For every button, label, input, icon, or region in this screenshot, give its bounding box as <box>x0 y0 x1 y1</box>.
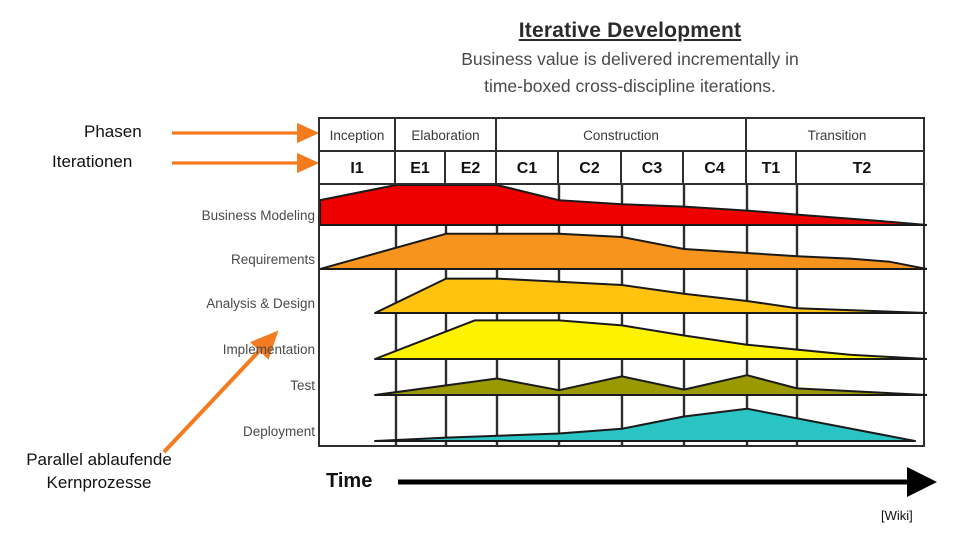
hump-area-test <box>375 375 927 395</box>
hump-chart-plot <box>320 185 927 446</box>
iteration-cell-label: I1 <box>350 160 363 178</box>
phase-cell-label: Elaboration <box>411 128 479 143</box>
phase-cell-label: Inception <box>330 128 385 143</box>
iteration-cell-t1: T1 <box>747 152 797 185</box>
iteration-header-row: I1E1E2C1C2C3C4T1T2 <box>320 152 923 185</box>
iteration-cell-i1: I1 <box>320 152 396 185</box>
annotation-iterationen-text: Iterationen <box>52 152 132 171</box>
chart-frame: InceptionElaborationConstructionTransiti… <box>318 117 925 447</box>
hump-area-implementation <box>375 320 927 359</box>
discipline-label-deployment: Deployment <box>150 424 315 439</box>
iteration-cell-e2: E2 <box>446 152 497 185</box>
discipline-label-implementation: Implementation <box>150 342 315 357</box>
phase-cell-label: Transition <box>808 128 867 143</box>
hump-area-analysis-design <box>375 279 927 313</box>
phase-cell-construction: Construction <box>497 119 747 152</box>
iteration-cell-c4: C4 <box>684 152 747 185</box>
page-subtitle-line2: time-boxed cross-discipline iterations. <box>330 75 930 98</box>
annotation-phasen: Phasen <box>84 122 142 142</box>
phase-cell-label: Construction <box>583 128 659 143</box>
discipline-label-analysis-design: Analysis & Design <box>150 296 315 311</box>
iteration-cell-c1: C1 <box>497 152 559 185</box>
phase-cell-inception: Inception <box>320 119 396 152</box>
iteration-cell-c3: C3 <box>622 152 684 185</box>
annotation-parallel-kernprozesse: Parallel ablaufende Kernprozesse <box>4 449 194 495</box>
iteration-cell-label: C1 <box>517 160 537 178</box>
discipline-label-test: Test <box>150 378 315 393</box>
diagram-canvas: Iterative Development Business value is … <box>0 0 957 549</box>
attribution-label: [Wiki] <box>881 508 913 523</box>
iteration-cell-label: T2 <box>853 160 872 178</box>
iteration-cell-label: C2 <box>579 160 599 178</box>
annotation-parallel-line2: Kernprozesse <box>4 472 194 495</box>
annotation-parallel-line1: Parallel ablaufende <box>4 449 194 472</box>
iteration-cell-label: C4 <box>704 160 724 178</box>
iteration-cell-label: E1 <box>410 160 430 178</box>
hump-area-business-modeling <box>320 185 927 225</box>
hump-area-deployment <box>375 409 915 441</box>
iteration-cell-label: T1 <box>762 160 781 178</box>
page-title: Iterative Development <box>330 18 930 44</box>
iteration-cell-label: E2 <box>461 160 481 178</box>
annotation-iterationen: Iterationen <box>52 152 132 172</box>
hump-area-requirements <box>320 234 927 269</box>
phase-header-row: InceptionElaborationConstructionTransiti… <box>320 119 923 152</box>
annotation-phasen-text: Phasen <box>84 122 142 141</box>
iteration-cell-e1: E1 <box>396 152 446 185</box>
phase-cell-elaboration: Elaboration <box>396 119 497 152</box>
discipline-label-business-modeling: Business Modeling <box>150 208 315 223</box>
discipline-label-requirements: Requirements <box>150 252 315 267</box>
iteration-cell-c2: C2 <box>559 152 622 185</box>
iteration-cell-t2: T2 <box>797 152 927 185</box>
phase-cell-transition: Transition <box>747 119 927 152</box>
title-block: Iterative Development Business value is … <box>330 18 930 98</box>
page-subtitle-line1: Business value is delivered incrementall… <box>330 48 930 71</box>
iteration-cell-label: C3 <box>642 160 662 178</box>
time-axis-label: Time <box>326 470 372 493</box>
